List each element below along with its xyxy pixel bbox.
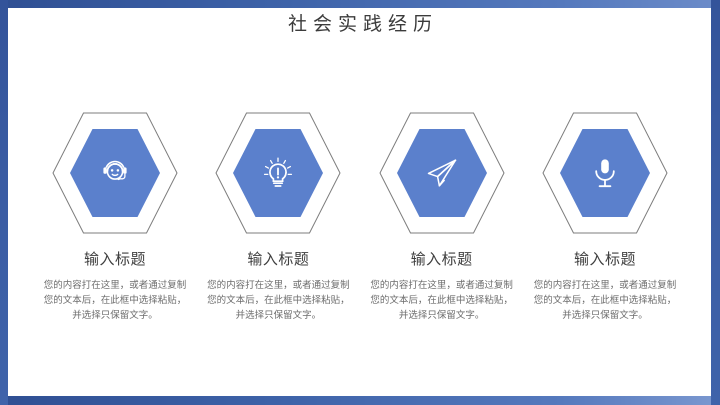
item-body: 您的内容打在这里，或者通过复制您的文本后，在此框中选择粘贴，并选择只保留文字。: [367, 279, 517, 324]
frame-border-bottom: [0, 396, 720, 405]
item-title: 输入标题: [247, 250, 309, 270]
item-title: 输入标题: [411, 250, 473, 270]
headset-support-icon: [98, 156, 132, 190]
item-body: 您的内容打在这里，或者通过复制您的文本后，在此框中选择粘贴，并选择只保留文字。: [530, 279, 680, 324]
lightbulb-idea-icon: [261, 156, 295, 190]
list-item[interactable]: 输入标题 您的内容打在这里，或者通过复制您的文本后，在此框中选择粘贴，并选择只保…: [363, 112, 521, 324]
hexagon-item-list: 输入标题 您的内容打在这里，或者通过复制您的文本后，在此框中选择粘贴，并选择只保…: [36, 112, 684, 324]
list-item[interactable]: 输入标题 您的内容打在这里，或者通过复制您的文本后，在此框中选择粘贴，并选择只保…: [526, 112, 684, 324]
page-title: 社会实践经历: [0, 12, 720, 38]
item-body: 您的内容打在这里，或者通过复制您的文本后，在此框中选择粘贴，并选择只保留文字。: [40, 279, 190, 324]
paper-plane-icon: [425, 156, 459, 190]
frame-border-right: [711, 0, 720, 405]
hexagon-badge[interactable]: [52, 112, 178, 234]
item-body: 您的内容打在这里，或者通过复制您的文本后，在此框中选择粘贴，并选择只保留文字。: [203, 279, 353, 324]
microphone-icon: [588, 156, 622, 190]
list-item[interactable]: 输入标题 您的内容打在这里，或者通过复制您的文本后，在此框中选择粘贴，并选择只保…: [36, 112, 194, 324]
item-title: 输入标题: [84, 250, 146, 270]
slide-canvas: 社会实践经历: [0, 0, 720, 405]
hexagon-badge[interactable]: [215, 112, 341, 234]
frame-border-left: [0, 0, 8, 405]
hexagon-badge[interactable]: [542, 112, 668, 234]
frame-border-top: [0, 0, 720, 8]
item-title: 输入标题: [574, 250, 636, 270]
list-item[interactable]: 输入标题 您的内容打在这里，或者通过复制您的文本后，在此框中选择粘贴，并选择只保…: [199, 112, 357, 324]
hexagon-badge[interactable]: [379, 112, 505, 234]
